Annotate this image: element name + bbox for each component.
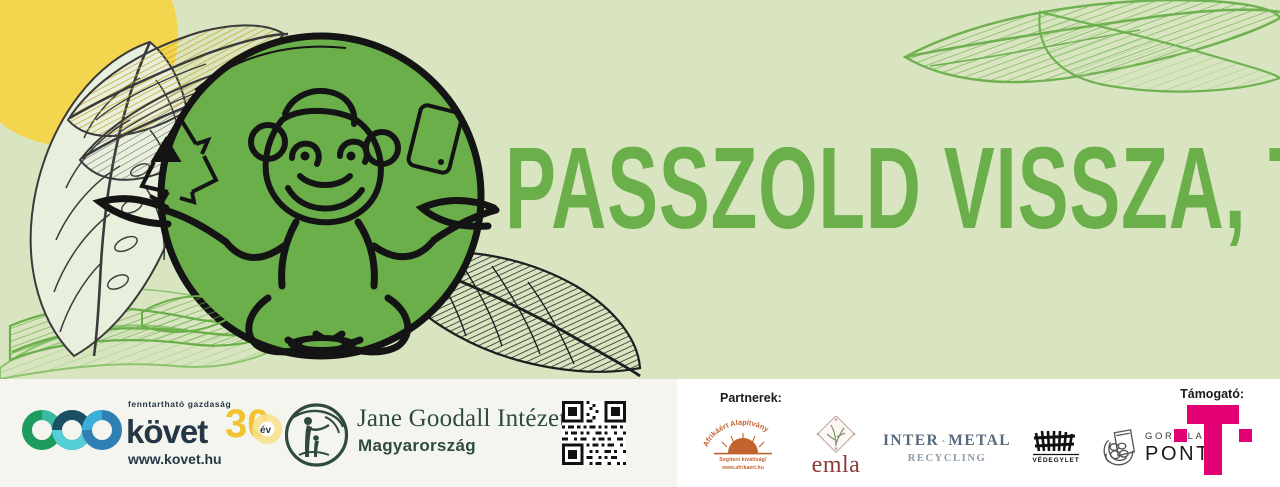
kovet-tagline: fenntartható gazdaság [128, 399, 231, 409]
sunrise-arc-icon: Afrikáért Alapítvány [700, 417, 786, 457]
qr-code-icon[interactable] [562, 401, 626, 470]
jane-goodall-name: Jane Goodall Intézet [357, 405, 566, 433]
inter-metal-word-3: RECYCLING [883, 453, 1011, 464]
partner-logo-emla[interactable]: emla [801, 413, 871, 483]
footer-bar: fenntartható gazdaság követ 30 év www.ko… [0, 379, 1280, 487]
kovet-rings-icon [22, 409, 122, 451]
campaign-banner: PASSZOLD VISSZA, TESÓ! fenntartható gazd… [0, 0, 1280, 487]
telekom-t-icon [1174, 403, 1252, 477]
kovet-url[interactable]: www.kovet.hu [128, 451, 222, 467]
page-title: PASSZOLD VISSZA, TESÓ! [505, 117, 1082, 259]
vedegylet-wordmark: VÉDEGYLET [1028, 457, 1084, 464]
recycle-icon [942, 432, 945, 450]
emla-wordmark: emla [803, 452, 869, 479]
partner-logo-afrikaert[interactable]: Afrikáért Alapítvány [695, 413, 791, 483]
organizers-area: fenntartható gazdaság követ 30 év www.ko… [0, 379, 677, 487]
jane-goodall-country: Magyarország [358, 436, 476, 456]
afrikaert-url[interactable]: www.afrikaert.hu [700, 465, 786, 471]
partners-label: Partnerek: [720, 391, 782, 405]
partner-logo-vedegylet[interactable]: VÉDEGYLET [1025, 413, 1087, 483]
kovet-logo[interactable]: fenntartható gazdaság követ 30 év www.ko… [18, 391, 298, 477]
hero-section: PASSZOLD VISSZA, TESÓ! [0, 0, 1280, 379]
partners-area: Partnerek: Támogató: Afrikáért Alapítván… [677, 379, 1280, 487]
inter-metal-word-2: METAL [948, 432, 1011, 450]
inter-metal-word-1: INTER [883, 432, 939, 450]
afrikaert-slogan: Segíteni kiváltság! [700, 457, 786, 463]
kovet-anniversary-badge: 30 év [223, 401, 293, 452]
jane-goodall-logo[interactable]: Jane Goodall Intézet Magyarország [285, 391, 575, 477]
sponsor-logo-telekom[interactable] [1174, 403, 1252, 482]
kovet-anniversary-unit: év [260, 425, 272, 436]
gorilla-hand-phone-icon [1101, 426, 1141, 470]
partner-logo-inter-metal[interactable]: INTER METAL RECYCLING [877, 413, 1017, 483]
jane-goodall-circle-icon [285, 403, 349, 467]
banana-leaf-icon-top-right [905, 0, 1280, 92]
kovet-wordmark: követ [126, 413, 207, 451]
sponsor-label: Támogató: [1180, 387, 1244, 401]
fence-mark-icon [1031, 427, 1081, 457]
diamond-plant-icon [814, 416, 858, 456]
